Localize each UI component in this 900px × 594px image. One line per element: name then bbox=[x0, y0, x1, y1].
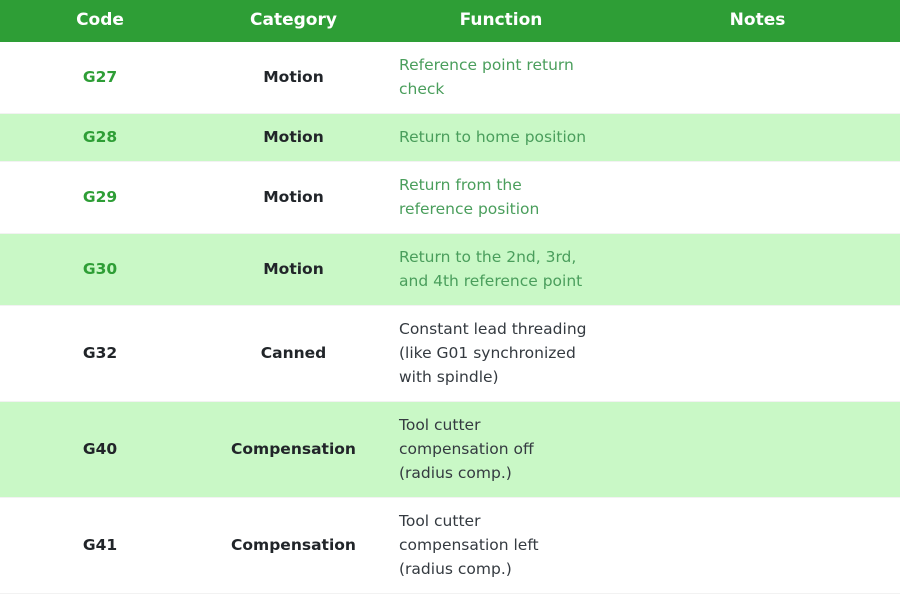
column-header-notes[interactable]: Notes bbox=[615, 0, 900, 42]
cell-notes bbox=[615, 498, 900, 594]
cell-code: G28 bbox=[0, 114, 200, 162]
column-header-category[interactable]: Category bbox=[200, 0, 387, 42]
table-row[interactable]: G28MotionReturn to home position bbox=[0, 114, 900, 162]
cell-category: Canned bbox=[200, 306, 387, 402]
cell-notes bbox=[615, 402, 900, 498]
cell-category: Motion bbox=[200, 114, 387, 162]
table-row[interactable]: G32CannedConstant lead threading (like G… bbox=[0, 306, 900, 402]
column-header-code[interactable]: Code bbox=[0, 0, 200, 42]
cell-function: Tool cutter compensation left (radius co… bbox=[387, 498, 615, 594]
cell-notes bbox=[615, 234, 900, 306]
table-row[interactable]: G40CompensationTool cutter compensation … bbox=[0, 402, 900, 498]
cell-category: Motion bbox=[200, 42, 387, 114]
cell-category: Motion bbox=[200, 234, 387, 306]
cell-function: Reference point return check bbox=[387, 42, 615, 114]
table-header: Code Category Function Notes bbox=[0, 0, 900, 42]
table-container: Code Category Function Notes G27MotionRe… bbox=[0, 0, 900, 594]
cell-code: G30 bbox=[0, 234, 200, 306]
table-row[interactable]: G30MotionReturn to the 2nd, 3rd, and 4th… bbox=[0, 234, 900, 306]
cell-function: Tool cutter compensation off (radius com… bbox=[387, 402, 615, 498]
cell-code: G32 bbox=[0, 306, 200, 402]
table-header-row: Code Category Function Notes bbox=[0, 0, 900, 42]
cell-function: Return to the 2nd, 3rd, and 4th referenc… bbox=[387, 234, 615, 306]
cell-code: G27 bbox=[0, 42, 200, 114]
cell-category: Compensation bbox=[200, 402, 387, 498]
table-row[interactable]: G41CompensationTool cutter compensation … bbox=[0, 498, 900, 594]
cell-code: G41 bbox=[0, 498, 200, 594]
cell-notes bbox=[615, 42, 900, 114]
cell-notes bbox=[615, 162, 900, 234]
column-header-function[interactable]: Function bbox=[387, 0, 615, 42]
table-body: G27MotionReference point return checkG28… bbox=[0, 42, 900, 594]
cell-function: Return from the reference position bbox=[387, 162, 615, 234]
table-row[interactable]: G27MotionReference point return check bbox=[0, 42, 900, 114]
cell-function: Constant lead threading (like G01 synchr… bbox=[387, 306, 615, 402]
g-code-reference-table: Code Category Function Notes G27MotionRe… bbox=[0, 0, 900, 594]
cell-notes bbox=[615, 306, 900, 402]
cell-function: Return to home position bbox=[387, 114, 615, 162]
cell-code: G29 bbox=[0, 162, 200, 234]
cell-category: Compensation bbox=[200, 498, 387, 594]
cell-notes bbox=[615, 114, 900, 162]
table-row[interactable]: G29MotionReturn from the reference posit… bbox=[0, 162, 900, 234]
cell-code: G40 bbox=[0, 402, 200, 498]
cell-category: Motion bbox=[200, 162, 387, 234]
